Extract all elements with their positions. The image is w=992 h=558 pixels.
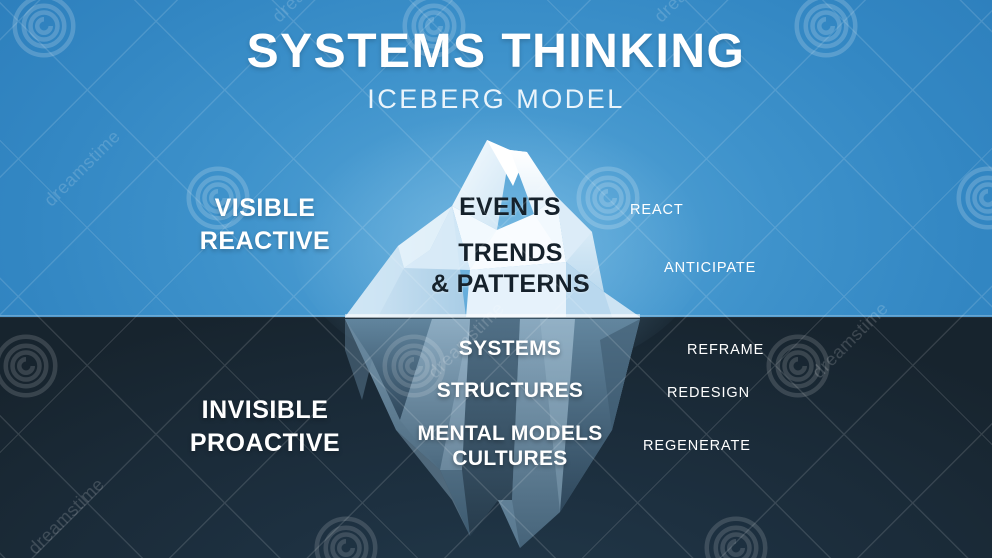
action-label-react: REACT xyxy=(630,202,684,218)
waterline-divider xyxy=(0,315,992,318)
zone-label-line1: VISIBLE xyxy=(140,192,390,225)
page-subtitle: ICEBERG MODEL xyxy=(0,84,992,115)
layer-label-line2: & PATTERNS xyxy=(368,269,653,300)
layer-label-mental-models-cultures: MENTAL MODELS CULTURES xyxy=(360,421,660,471)
action-label-regenerate: REGENERATE xyxy=(643,438,751,454)
zone-label-visible-reactive: VISIBLE REACTIVE xyxy=(140,192,390,258)
zone-label-invisible-proactive: INVISIBLE PROACTIVE xyxy=(140,394,390,460)
zone-label-line2: PROACTIVE xyxy=(140,427,390,460)
layer-label-systems: SYSTEMS xyxy=(380,337,640,361)
action-label-anticipate: ANTICIPATE xyxy=(664,260,756,276)
layer-label-trends-patterns: TRENDS & PATTERNS xyxy=(368,238,653,299)
layer-label-structures: STRUCTURES xyxy=(375,379,645,403)
layer-label-line2: CULTURES xyxy=(360,446,660,471)
zone-label-line2: REACTIVE xyxy=(140,225,390,258)
page-title: SYSTEMS THINKING xyxy=(0,24,992,79)
infographic-canvas: SYSTEMS THINKING ICEBERG MODEL VISIBLE R… xyxy=(0,0,992,558)
action-label-reframe: REFRAME xyxy=(687,342,764,358)
zone-label-line1: INVISIBLE xyxy=(140,394,390,427)
layer-label-events: EVENTS xyxy=(380,193,640,222)
layer-label-line1: MENTAL MODELS xyxy=(360,421,660,446)
action-label-redesign: REDESIGN xyxy=(667,385,750,401)
layer-label-line1: TRENDS xyxy=(368,238,653,269)
